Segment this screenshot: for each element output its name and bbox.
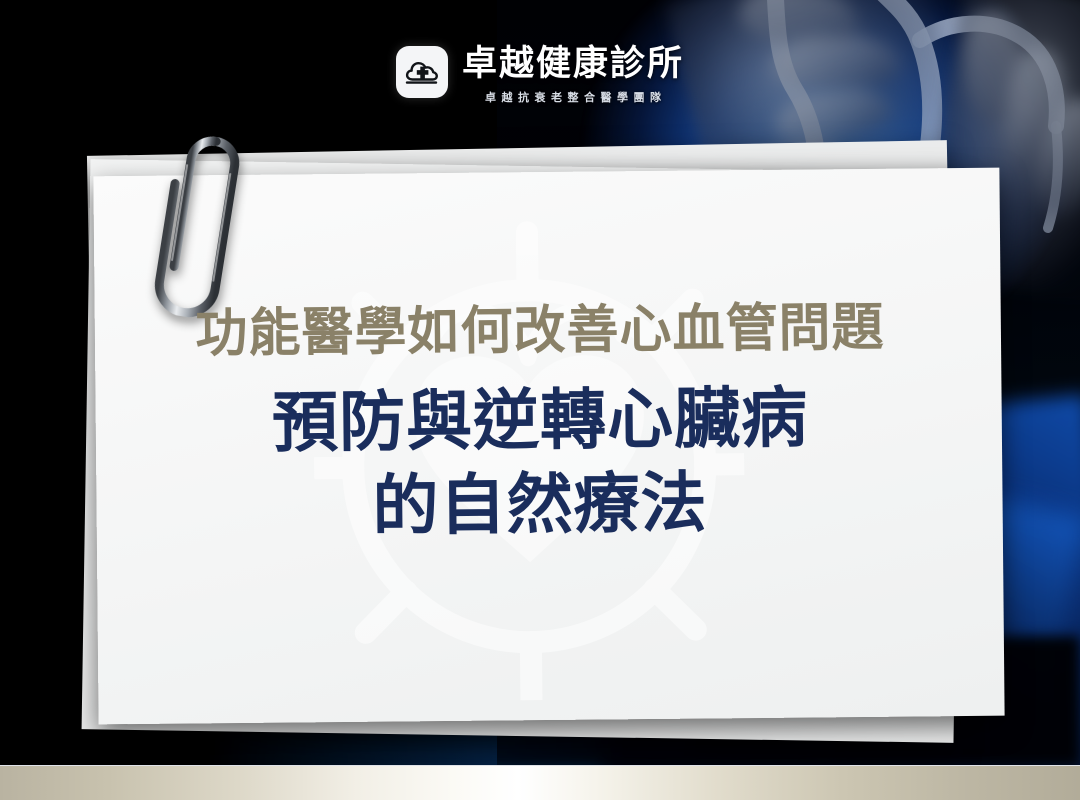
headline-line-1: 預防與逆轉心臟病 xyxy=(0,372,1080,470)
kicker-line: 功能醫學如何改善心血管問題 xyxy=(0,295,1080,369)
headline-group: 功能醫學如何改善心血管問題 預防與逆轉心臟病 的自然療法 xyxy=(0,300,1080,549)
brand-tagline: 卓越抗衰老整合醫學團隊 xyxy=(479,89,666,105)
gold-footer-bar xyxy=(0,765,1080,800)
brand-name: 卓越健康診所 xyxy=(462,44,684,83)
cloud-medical-cross-icon xyxy=(396,46,448,98)
headline-line-2: 的自然療法 xyxy=(0,456,1080,554)
title-card-canvas: 卓越健康診所 卓越抗衰老整合醫學團隊 xyxy=(0,0,1080,800)
brand-logo-lockup: 卓越健康診所 卓越抗衰老整合醫學團隊 xyxy=(0,44,1080,105)
